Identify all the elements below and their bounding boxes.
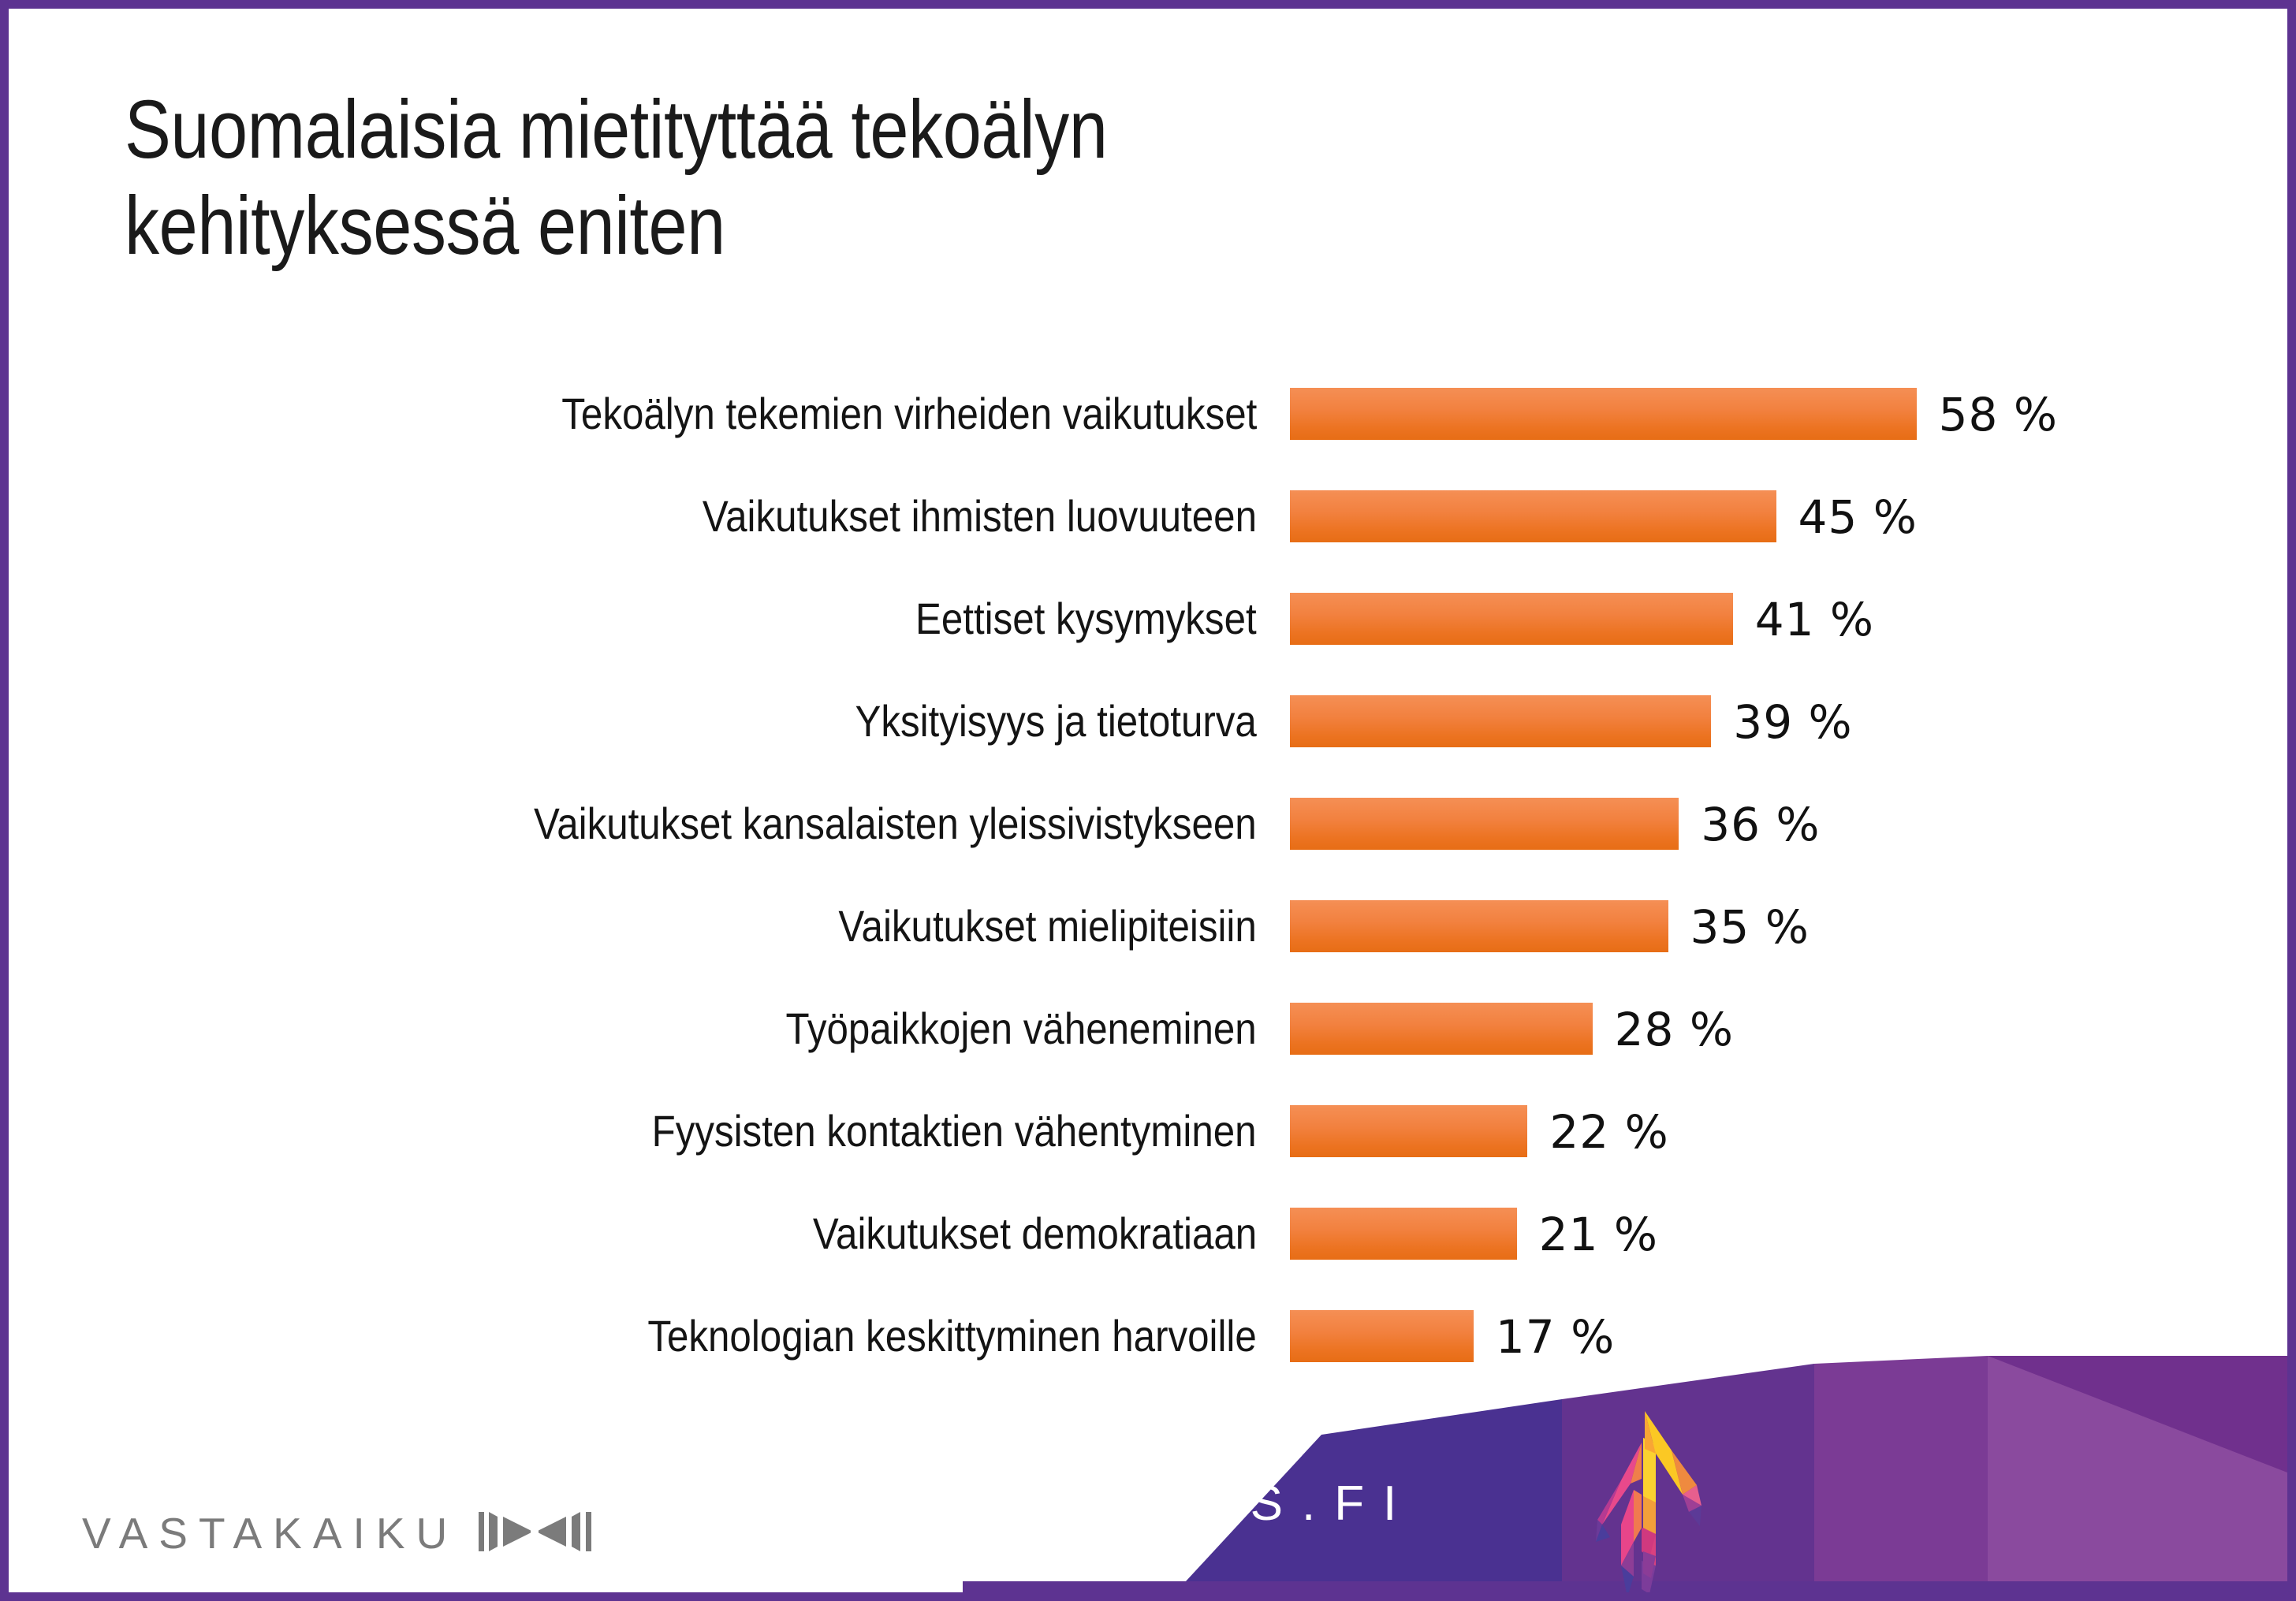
bar-value-label: 39 % xyxy=(1733,695,1852,747)
category-label: Eettiset kysymykset xyxy=(915,593,1257,645)
category-label: Fyysisten kontaktien vähentyminen xyxy=(652,1105,1257,1157)
infographic-page: Suomalaisia mietityttää tekoälyn kehityk… xyxy=(0,0,2296,1601)
chart-row: Tekoälyn tekemien virheiden vaikutukset5… xyxy=(0,388,2296,440)
vastakaiku-logo: VASTAKAIKU xyxy=(82,1504,597,1563)
chart-row: Eettiset kysymykset41 % xyxy=(0,593,2296,645)
bar-value-label: 58 % xyxy=(1939,388,2058,440)
chart-row: Teknologian keskittyminen harvoille17 % xyxy=(0,1310,2296,1362)
bar xyxy=(1290,1208,1517,1260)
category-label: Teknologian keskittyminen harvoille xyxy=(648,1310,1257,1362)
herays-arrow-flame-logo xyxy=(1594,1408,1733,1601)
bar xyxy=(1290,1105,1527,1157)
category-label: Vaikutukset kansalaisten yleissivistykse… xyxy=(534,798,1257,850)
chart-row: Työpaikkojen väheneminen28 % xyxy=(0,1003,2296,1055)
category-label: Vaikutukset ihmisten luovuuteen xyxy=(703,490,1257,542)
bar xyxy=(1290,490,1776,542)
bar xyxy=(1290,900,1668,952)
bar xyxy=(1290,1310,1474,1362)
vastakaiku-wave-mark xyxy=(479,1504,597,1563)
bar-value-label: 36 % xyxy=(1701,798,1820,850)
chart-row: Fyysisten kontaktien vähentyminen22 % xyxy=(0,1105,2296,1157)
bar-chart: Tekoälyn tekemien virheiden vaikutukset5… xyxy=(0,0,2296,1601)
bar xyxy=(1290,593,1733,645)
category-label: Vaikutukset demokratiaan xyxy=(813,1208,1257,1260)
bar-value-label: 17 % xyxy=(1496,1310,1615,1362)
vastakaiku-wordmark: VASTAKAIKU xyxy=(82,1512,458,1555)
bar-value-label: 22 % xyxy=(1549,1105,1668,1157)
chart-row: Vaikutukset kansalaisten yleissivistykse… xyxy=(0,798,2296,850)
bar-value-label: 21 % xyxy=(1539,1208,1658,1260)
bar-value-label: 45 % xyxy=(1798,490,1918,542)
bar xyxy=(1290,798,1679,850)
bar xyxy=(1290,695,1711,747)
chart-row: Vaikutukset ihmisten luovuuteen45 % xyxy=(0,490,2296,542)
bar-value-label: 35 % xyxy=(1690,900,1810,952)
category-label: Vaikutukset mielipiteisiin xyxy=(839,900,1257,952)
chart-row: Vaikutukset mielipiteisiin35 % xyxy=(0,900,2296,952)
chart-row: Vaikutukset demokratiaan21 % xyxy=(0,1208,2296,1260)
bar xyxy=(1290,388,1917,440)
herays-wordmark: HERÄYS.FI xyxy=(987,1476,1415,1532)
category-label: Yksityisyys ja tietoturva xyxy=(855,695,1257,747)
category-label: Tekoälyn tekemien virheiden vaikutukset xyxy=(561,388,1257,440)
bar-value-label: 28 % xyxy=(1615,1003,1734,1055)
bar-value-label: 41 % xyxy=(1755,593,1874,645)
chart-row: Yksityisyys ja tietoturva39 % xyxy=(0,695,2296,747)
bar xyxy=(1290,1003,1593,1055)
category-label: Työpaikkojen väheneminen xyxy=(786,1003,1257,1055)
